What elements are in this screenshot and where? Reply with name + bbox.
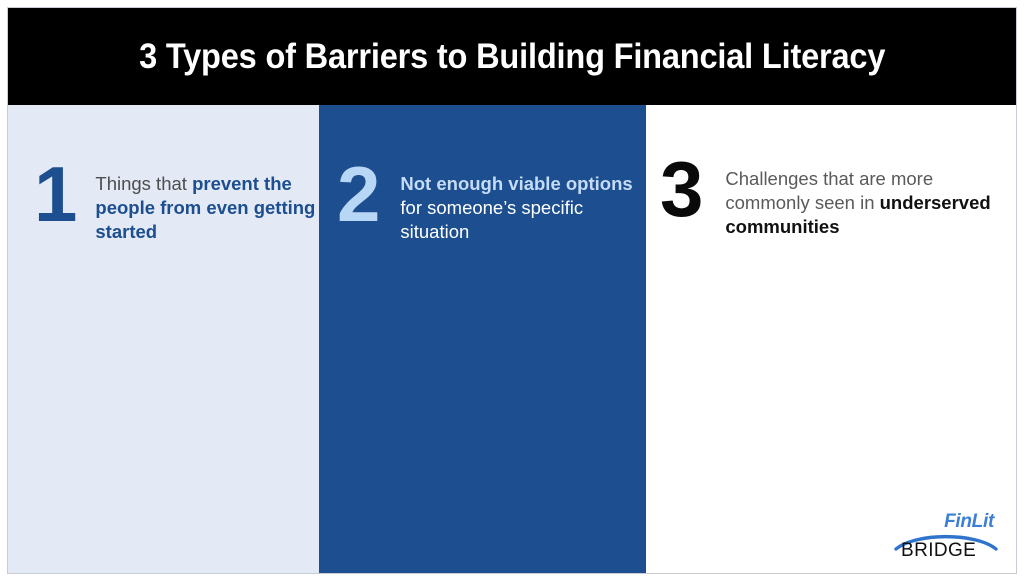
barrier-column-1[interactable]: 1 Things that prevent the people from ev… [8,105,319,574]
barrier-numeral-3: 3 [660,158,703,222]
title-bar: 3 Types of Barriers to Building Financia… [8,8,1016,105]
barrier-column-2[interactable]: 2 Not enough viable options for someone’… [319,105,646,574]
barrier-item-3: 3 Challenges that are more commonly seen… [660,162,1010,239]
barrier-text-3: Challenges that are more commonly seen i… [725,162,1010,239]
barrier-text-1: Things that prevent the people from even… [95,167,319,244]
logo-finlit-text: FinLit [944,511,994,533]
slide-canvas: 3 Types of Barriers to Building Financia… [7,7,1017,574]
barrier-text-1-plain: Things that [95,173,192,194]
finlit-bridge-logo[interactable]: FinLit BRIDGE [894,507,998,567]
barrier-column-3[interactable]: 3 Challenges that are more commonly seen… [646,105,1016,574]
barrier-item-2: 2 Not enough viable options for someone’… [337,167,635,244]
barrier-text-2-bold: Not enough viable options [400,173,632,194]
barrier-text-2: Not enough viable options for someone’s … [400,167,635,244]
barrier-item-1: 1 Things that prevent the people from ev… [34,167,319,244]
page-title: 3 Types of Barriers to Building Financia… [139,37,885,77]
barrier-columns: 1 Things that prevent the people from ev… [8,105,1016,574]
barrier-numeral-2: 2 [337,163,380,227]
logo-bridge-text: BRIDGE [901,540,976,562]
slide-frame: 3 Types of Barriers to Building Financia… [0,0,1024,582]
barrier-text-2-plain: for someone’s specific situation [400,197,583,242]
barrier-numeral-1: 1 [34,163,77,227]
